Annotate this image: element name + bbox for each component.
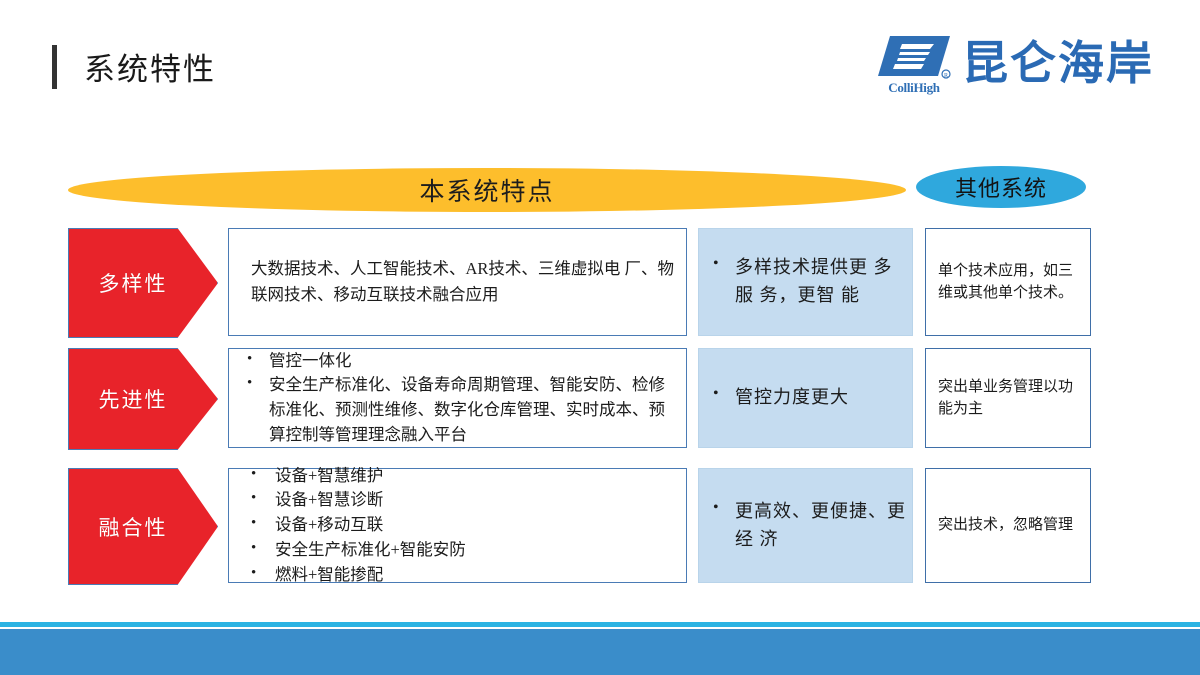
feature-tag-label: 融合性 — [99, 512, 168, 542]
banner-this-system-label: 本系统特点 — [68, 172, 906, 208]
feature-benefit-box: 管控力度更大 — [698, 348, 913, 448]
feature-benefit-box: 多样技术提供更 多 服 务，更智 能 — [698, 228, 913, 336]
list-item: 燃料+智能掺配 — [239, 563, 676, 588]
other-system-box: 突出技术，忽略管理 — [925, 468, 1091, 583]
list-item: 设备+智慧维护 — [239, 464, 676, 489]
feature-benefit-list: 管控力度更大 — [707, 384, 906, 412]
page-title: 系统特性 — [84, 44, 216, 89]
feature-tag-label: 先进性 — [99, 384, 168, 414]
list-item: 设备+移动互联 — [239, 513, 676, 538]
feature-tag-integration: 融合性 — [68, 468, 218, 585]
footer-band — [0, 629, 1200, 675]
other-system-text: 突出技术，忽略管理 — [938, 514, 1078, 537]
feature-row: 多样性 大数据技术、人工智能技术、AR技术、三维虚拟电 厂、物联网技术、移动互联… — [0, 228, 1200, 336]
feature-detail-text: 大数据技术、人工智能技术、AR技术、三维虚拟电 厂、物联网技术、移动互联技术融合… — [239, 256, 676, 307]
other-system-box: 单个技术应用，如三维或其他单个技术。 — [925, 228, 1091, 336]
feature-benefit-box: 更高效、更便捷、更 经 济 — [698, 468, 913, 583]
feature-detail-list: 设备+智慧维护 设备+智慧诊断 设备+移动互联 安全生产标准化+智能安防 燃料+… — [239, 464, 676, 588]
logo-wordmark-cn: 昆仑海岸 — [962, 41, 1154, 87]
list-item: 安全生产标准化、设备寿命周期管理、智能安防、检修标准化、预测性维修、数字化仓库管… — [239, 373, 676, 447]
banner-other-system: 其他系统 — [916, 166, 1086, 208]
collihigh-logo-icon: R ColliHigh — [876, 34, 952, 94]
banner-this-system: 本系统特点 — [68, 168, 906, 212]
feature-row: 先进性 管控一体化 安全生产标准化、设备寿命周期管理、智能安防、检修标准化、预测… — [0, 348, 1200, 448]
footer-accent-line — [0, 622, 1200, 627]
other-system-text: 突出单业务管理以功能为主 — [938, 376, 1078, 421]
other-system-box: 突出单业务管理以功能为主 — [925, 348, 1091, 448]
other-system-text: 单个技术应用，如三维或其他单个技术。 — [938, 260, 1078, 305]
list-item: 设备+智慧诊断 — [239, 488, 676, 513]
list-item: 管控一体化 — [239, 349, 676, 374]
list-item: 更高效、更便捷、更 经 济 — [707, 498, 906, 554]
title-accent-bar — [52, 45, 57, 89]
feature-detail-box: 管控一体化 安全生产标准化、设备寿命周期管理、智能安防、检修标准化、预测性维修、… — [228, 348, 687, 448]
feature-detail-list: 管控一体化 安全生产标准化、设备寿命周期管理、智能安防、检修标准化、预测性维修、… — [239, 349, 676, 448]
feature-detail-box: 设备+智慧维护 设备+智慧诊断 设备+移动互联 安全生产标准化+智能安防 燃料+… — [228, 468, 687, 583]
feature-tag-diversity: 多样性 — [68, 228, 218, 338]
list-item: 安全生产标准化+智能安防 — [239, 538, 676, 563]
list-item: 多样技术提供更 多 服 务，更智 能 — [707, 254, 906, 310]
slide-canvas: 系统特性 R ColliHigh 昆仑海岸 本系统特点 其他系统 多样性 — [0, 0, 1200, 675]
feature-detail-box: 大数据技术、人工智能技术、AR技术、三维虚拟电 厂、物联网技术、移动互联技术融合… — [228, 228, 687, 336]
list-item: 管控力度更大 — [707, 384, 906, 412]
feature-tag-label: 多样性 — [99, 268, 168, 298]
banner-other-system-label: 其他系统 — [916, 171, 1086, 203]
svg-text:R: R — [944, 73, 948, 79]
feature-benefit-list: 更高效、更便捷、更 经 济 — [707, 498, 906, 554]
brand-logo: R ColliHigh 昆仑海岸 — [876, 34, 1154, 94]
feature-benefit-list: 多样技术提供更 多 服 务，更智 能 — [707, 254, 906, 310]
feature-tag-advancement: 先进性 — [68, 348, 218, 450]
logo-wordmark-en: ColliHigh — [876, 80, 952, 96]
feature-row: 融合性 设备+智慧维护 设备+智慧诊断 设备+移动互联 安全生产标准化+智能安防… — [0, 468, 1200, 583]
